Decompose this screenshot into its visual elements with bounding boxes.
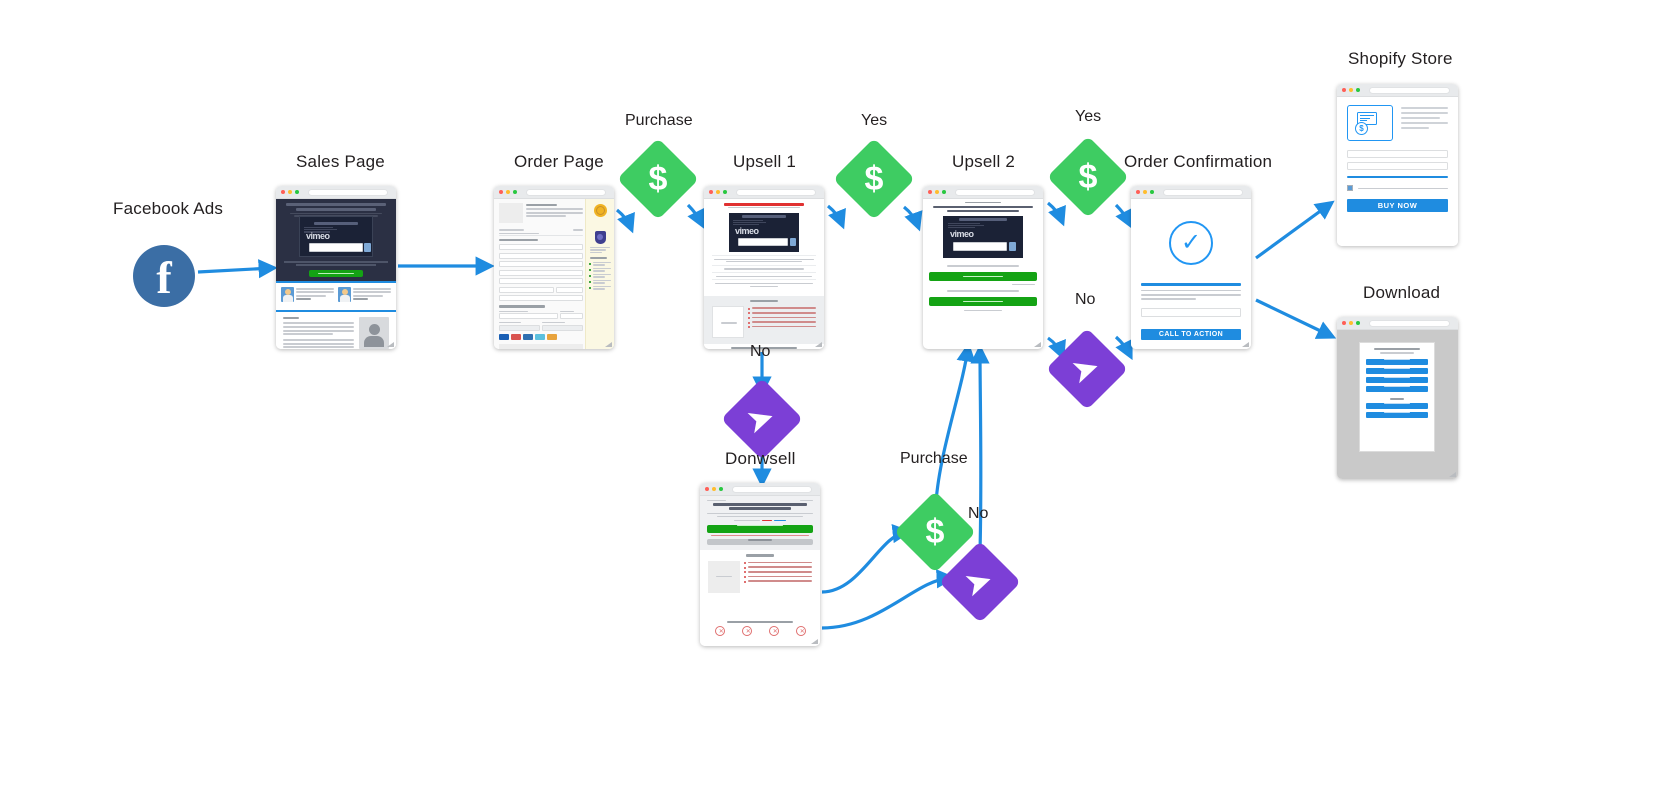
card-info-heading [499, 305, 545, 307]
label-order-confirmation: Order Confirmation [1124, 152, 1272, 172]
guarantee-badge-icon [594, 204, 607, 217]
edge-label-yes-2: Yes [1075, 108, 1101, 126]
mockup-sales-page[interactable]: vimeo [276, 186, 396, 349]
downsell-includes [700, 550, 820, 596]
window-minimize-dot [506, 190, 510, 194]
browser-titlebar [1337, 84, 1458, 97]
downsell-accept-button[interactable] [707, 525, 813, 533]
address-bar[interactable] [526, 189, 606, 196]
product-box-icon: $ [1347, 105, 1393, 141]
window-close-dot [281, 190, 285, 194]
dollar-icon: $ [865, 162, 884, 196]
page-corner-fold [815, 342, 822, 347]
decision-no-downsell[interactable]: ➤ [951, 553, 1009, 611]
window-maximize-dot [723, 190, 727, 194]
label-upsell-2: Upsell 2 [952, 152, 1015, 172]
check-circle-icon: ✓ [1169, 221, 1213, 265]
address-bar[interactable] [1369, 320, 1450, 327]
browser-titlebar [276, 186, 396, 199]
downsell-offer-block [700, 496, 820, 550]
edge-label-purchase: Purchase [625, 112, 693, 130]
download-row[interactable] [1366, 359, 1428, 365]
download-row[interactable] [1366, 368, 1428, 374]
download-row[interactable] [1366, 377, 1428, 383]
downsell-body: ✕ ✕ ✕ ✕ [700, 496, 820, 646]
downsell-price-line [707, 520, 813, 522]
edge-label-purchase-downsell: Purchase [900, 450, 968, 468]
browser-titlebar [1131, 186, 1251, 199]
sales-body-copy [276, 314, 396, 349]
download-paper [1359, 342, 1435, 452]
mockup-order-page[interactable] [494, 186, 614, 349]
shopify-body: $ BUY NOW [1337, 97, 1458, 246]
downsell-footer: ✕ ✕ ✕ ✕ [700, 618, 820, 646]
window-maximize-dot [513, 190, 517, 194]
testimonials-row [276, 283, 396, 310]
window-minimize-dot [716, 190, 720, 194]
sales-page-body: vimeo [276, 199, 396, 349]
browser-titlebar [1337, 317, 1458, 330]
window-minimize-dot [1143, 190, 1147, 194]
address-bar[interactable] [955, 189, 1035, 196]
window-maximize-dot [1356, 321, 1360, 325]
page-corner-fold [1242, 342, 1249, 347]
call-to-action-button[interactable]: CALL TO ACTION [1141, 329, 1241, 340]
address-bar[interactable] [732, 486, 812, 493]
edge-label-no-upsell2: No [1075, 291, 1095, 309]
browser-titlebar [704, 186, 824, 199]
window-maximize-dot [1150, 190, 1154, 194]
shopify-field-1[interactable] [1347, 150, 1448, 158]
includes-heading [746, 554, 773, 556]
sales-signup-button[interactable] [309, 270, 363, 277]
decision-no-upsell1[interactable]: ➤ [733, 390, 791, 448]
browser-titlebar [700, 483, 820, 496]
facebook-glyph: f [156, 255, 171, 301]
downsell-headline [713, 503, 807, 506]
upsell2-headline [933, 206, 1033, 208]
dollar-icon: $ [926, 515, 945, 549]
upsell1-warning [724, 203, 804, 206]
mockup-upsell-1[interactable]: vimeo [704, 186, 824, 349]
dollar-icon: $ [649, 162, 668, 196]
window-minimize-dot [712, 487, 716, 491]
label-shopify-store: Shopify Store [1348, 49, 1453, 69]
video-embed[interactable]: vimeo [729, 213, 799, 252]
window-close-dot [928, 190, 932, 194]
confirmation-body: ✓ CALL TO ACTION [1131, 199, 1251, 349]
author-photo [359, 317, 389, 349]
shield-badge-icon [595, 231, 606, 244]
sales-hero: vimeo [276, 199, 396, 281]
window-maximize-dot [295, 190, 299, 194]
shopify-field-2[interactable] [1347, 162, 1448, 170]
address-bar[interactable] [736, 189, 816, 196]
download-bonus-row[interactable] [1366, 403, 1428, 409]
downsell-warning-line [711, 535, 809, 536]
window-close-dot [705, 487, 709, 491]
upsell2-accept-button-1[interactable] [929, 272, 1037, 281]
mockup-shopify-store[interactable]: $ BUY NOW [1337, 84, 1458, 246]
order-page-body [494, 199, 614, 349]
edge-label-yes-1: Yes [861, 112, 887, 130]
downsell-decline-button[interactable] [707, 539, 813, 545]
window-close-dot [1342, 88, 1346, 92]
video-embed[interactable]: vimeo [943, 216, 1023, 258]
vimeo-wordmark: vimeo [735, 226, 759, 236]
browser-titlebar [923, 186, 1043, 199]
browser-titlebar [494, 186, 614, 199]
buy-now-button[interactable]: BUY NOW [1347, 199, 1448, 212]
upsell2-offer2-text [947, 290, 1020, 292]
upsell2-offer-1 [931, 265, 1035, 270]
window-close-dot [1342, 321, 1346, 325]
window-minimize-dot [1349, 321, 1353, 325]
upsell1-body: vimeo [704, 199, 824, 349]
download-bonus-label [1390, 398, 1404, 400]
label-upsell-1: Upsell 1 [733, 152, 796, 172]
downsell-footer-title [727, 621, 794, 623]
download-backdrop [1337, 330, 1458, 479]
page-corner-fold [1449, 472, 1456, 477]
label-download: Download [1363, 283, 1440, 303]
label-facebook-ads: Facebook Ads [113, 199, 223, 219]
window-maximize-dot [1356, 88, 1360, 92]
order-form-column[interactable] [499, 229, 583, 349]
label-order-page: Order Page [514, 152, 604, 172]
page-corner-fold [387, 342, 394, 347]
facebook-icon[interactable]: f [133, 245, 195, 307]
window-minimize-dot [1349, 88, 1353, 92]
window-minimize-dot [935, 190, 939, 194]
decision-purchase-order[interactable]: $ [629, 150, 687, 208]
download-bonus-row[interactable] [1366, 412, 1428, 418]
download-body [1337, 330, 1458, 479]
decision-no-upsell2[interactable]: ➤ [1058, 340, 1116, 398]
window-close-dot [709, 190, 713, 194]
address-bar[interactable] [1163, 189, 1243, 196]
mockup-order-confirmation[interactable]: ✓ CALL TO ACTION [1131, 186, 1251, 349]
page-corner-fold [605, 342, 612, 347]
window-close-dot [1136, 190, 1140, 194]
page-corner-fold [1034, 342, 1041, 347]
mockup-download[interactable] [1337, 317, 1458, 479]
mockup-downsell[interactable]: ✕ ✕ ✕ ✕ [700, 483, 820, 646]
page-corner-fold [811, 639, 818, 644]
vimeo-wordmark: vimeo [950, 229, 974, 239]
upsell2-decline-link[interactable] [964, 310, 1001, 311]
check-glyph: ✓ [1181, 231, 1201, 255]
order-product-summary [499, 203, 583, 225]
shopify-checkbox[interactable] [1347, 185, 1353, 191]
confirmation-lines [1141, 283, 1241, 323]
edge-label-no-downsell: No [968, 505, 988, 523]
includes-heading [750, 300, 777, 302]
video-embed[interactable]: vimeo [299, 216, 373, 257]
decision-yes-upsell2[interactable]: $ [1059, 148, 1117, 206]
upsell1-copy [712, 255, 816, 287]
download-subtitle [1380, 352, 1415, 353]
sales-body-heading [283, 317, 299, 319]
window-close-dot [499, 190, 503, 194]
address-bar[interactable] [308, 189, 388, 196]
dollar-icon: $ [1079, 160, 1098, 194]
download-row[interactable] [1366, 386, 1428, 392]
label-sales-page: Sales Page [296, 152, 385, 172]
vimeo-wordmark: vimeo [306, 231, 330, 241]
card-brand-icons [499, 334, 583, 340]
window-minimize-dot [288, 190, 292, 194]
address-bar[interactable] [1369, 87, 1450, 94]
upsell2-offer1-text [947, 265, 1020, 267]
upsell2-body: vimeo [923, 199, 1043, 349]
order-sidebar [585, 199, 614, 349]
upsell1-includes [704, 296, 824, 344]
download-title [1374, 348, 1420, 350]
window-maximize-dot [942, 190, 946, 194]
upsell2-wait-label [965, 202, 1000, 203]
sidebar-heading [590, 257, 607, 259]
confirmation-input[interactable] [1141, 308, 1241, 317]
decision-yes-upsell1[interactable]: $ [845, 150, 903, 208]
funnel-diagram-canvas: Facebook Ads f Sales Page [0, 0, 1680, 802]
edge-label-no-upsell1: No [750, 343, 770, 361]
window-maximize-dot [719, 487, 723, 491]
label-downsell: Donwsell [725, 449, 796, 469]
upsell1-warning-sub [728, 207, 800, 208]
contact-info-heading [499, 239, 538, 241]
upsell2-accept-button-2[interactable] [929, 297, 1037, 306]
mockup-upsell-2[interactable]: vimeo [923, 186, 1043, 349]
